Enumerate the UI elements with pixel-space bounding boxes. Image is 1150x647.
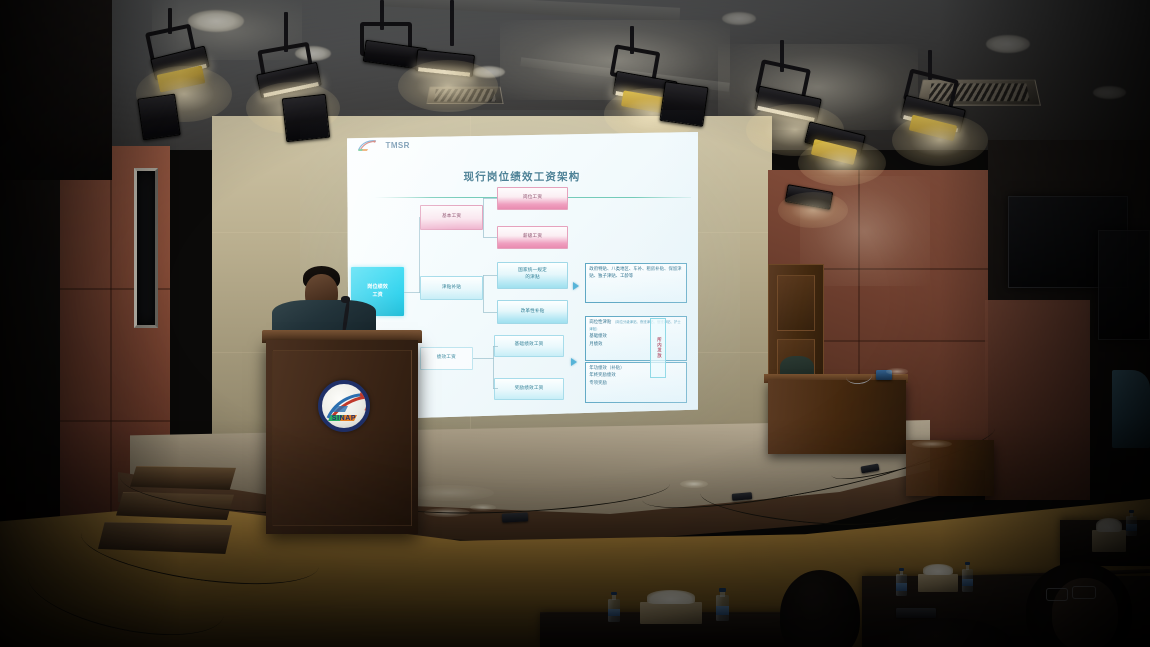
sinap-logo-icon	[357, 139, 377, 152]
podium-emblem-text: SINAP	[322, 415, 366, 422]
slide-node-leaf-national-allowance: 国家统一规定 的津贴	[497, 262, 567, 289]
desk-device	[876, 370, 892, 380]
water-bottle	[716, 588, 729, 621]
slide-title: 现行岗位绩效工资架构	[346, 169, 698, 184]
water-bottle	[896, 568, 907, 596]
podium-front-panel	[272, 350, 412, 526]
downlight-icon	[472, 66, 505, 78]
callout-line: 年功绩效（补贴）	[589, 365, 683, 372]
tissue-box	[918, 574, 958, 592]
downlight-icon	[722, 12, 756, 25]
wall-window-recess	[134, 168, 158, 328]
callout-line: 专项奖励	[589, 380, 683, 387]
slide-arrow-icon	[571, 358, 577, 366]
tmsr-wordmark: TMSR	[386, 141, 410, 150]
slide-connector	[419, 217, 420, 293]
hvac-vent-icon	[426, 87, 503, 104]
water-bottle	[608, 592, 620, 622]
cable-tape-box	[502, 512, 528, 522]
lecture-hall-photo: TMSR 现行岗位绩效工资架构 岗位绩效 工资 基本工资 津贴补贴 绩效工资 岗…	[0, 0, 1150, 647]
tissue-box	[1092, 530, 1126, 552]
water-bottle	[1126, 510, 1137, 536]
slide-node-branch-basic: 基本工资	[420, 205, 483, 229]
microphone-capsule	[341, 296, 350, 303]
head-table	[768, 380, 906, 454]
slide-logo-group: TMSR	[357, 139, 410, 152]
slide-connector	[483, 275, 497, 276]
slide-callout-basic: 岗位性津贴 （岗位分级津贴、夜班津贴、值班津贴、护士津贴） 基础绩效 月绩效	[585, 316, 687, 361]
downlight-icon	[1093, 86, 1126, 99]
left-dark-wall	[0, 120, 60, 540]
wall-display-secondary	[1098, 230, 1150, 340]
slide-connector	[473, 358, 494, 359]
slide-callout-allowances: 政府特贴、八类地区、车补、租房补贴、保留津贴、独子津贴、工龄等	[585, 263, 687, 303]
decor-banner	[1112, 370, 1150, 448]
slide-connector	[483, 198, 484, 237]
slide-node-leaf-reform-subsidy: 改革性补贴	[497, 300, 567, 323]
slide-node-branch-performance: 绩效工资	[420, 347, 473, 370]
door-panel	[777, 275, 815, 331]
left-upper-dark	[0, 0, 112, 180]
laptop	[896, 608, 936, 618]
slide-node-leaf-base-performance: 基础绩效工资	[494, 335, 564, 357]
tissue-puff	[1096, 518, 1122, 532]
downlight-icon	[986, 35, 1030, 53]
slide-node-leaf-grade-salary: 薪级工资	[497, 226, 567, 249]
callout-line: 基础绩效	[589, 333, 683, 340]
slide-connector	[483, 198, 497, 199]
eyeglasses-icon	[1072, 586, 1096, 599]
downlight-icon	[188, 10, 244, 32]
right-lower-wall	[985, 300, 1090, 500]
water-bottle	[962, 562, 973, 592]
slide-connector	[493, 346, 498, 347]
tissue-box	[640, 602, 702, 624]
slide-connector	[483, 237, 497, 238]
slide-node-branch-allowance: 津贴补贴	[420, 276, 483, 300]
podium-emblem: SINAP	[318, 380, 370, 432]
eyeglasses-icon	[1046, 588, 1068, 601]
tissue-puff	[923, 564, 953, 575]
slide-callout-bonus: 年功绩效（补贴） 年终奖励绩效 专项奖励	[585, 362, 687, 402]
slide-node-leaf-post-salary: 岗位工资	[497, 187, 567, 210]
callout-line: 岗位性津贴 （岗位分级津贴、夜班津贴、值班津贴、护士津贴）	[589, 319, 683, 333]
callout-line: 年终奖励绩效	[589, 372, 683, 379]
slide-connector	[493, 388, 498, 389]
side-table	[906, 440, 994, 496]
slide-connector	[493, 346, 494, 389]
slide-connector	[483, 275, 484, 312]
slide-connector	[483, 312, 497, 313]
tissue-puff	[647, 590, 694, 604]
slide-side-label: 所内发放	[650, 318, 666, 378]
callout-line: 月绩效	[589, 341, 683, 348]
slide-arrow-icon	[573, 282, 579, 290]
slide-node-leaf-bonus-performance: 奖励绩效工资	[494, 378, 564, 400]
